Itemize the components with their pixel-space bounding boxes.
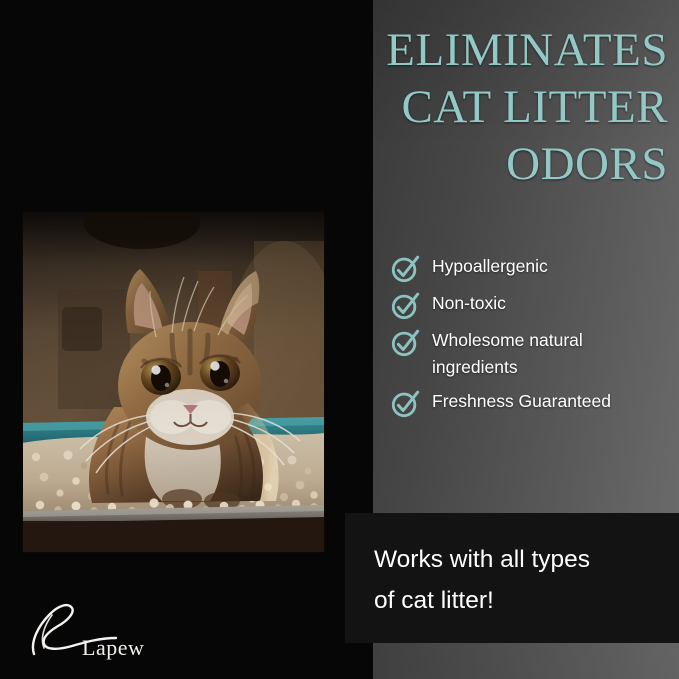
check-circle-icon xyxy=(390,327,420,357)
feature-label: Wholesome natural ingredients xyxy=(432,326,672,381)
headline: ELIMINATES CAT LITTER ODORS xyxy=(288,22,668,193)
check-circle-icon xyxy=(390,290,420,320)
callout-line-2: of cat litter! xyxy=(374,580,667,621)
feature-label: Hypoallergenic xyxy=(432,252,548,280)
list-item: Wholesome natural ingredients xyxy=(390,326,672,381)
callout-box: Works with all types of cat litter! xyxy=(345,513,679,643)
photo-artwork xyxy=(22,211,325,553)
list-item: Freshness Guaranteed xyxy=(390,387,672,418)
headline-line-3: ODORS xyxy=(288,136,668,193)
feature-label: Freshness Guaranteed xyxy=(432,387,611,415)
headline-line-1: ELIMINATES xyxy=(288,22,668,79)
feature-list: Hypoallergenic Non-toxic Wholesome natur… xyxy=(390,252,672,424)
callout-line-1: Works with all types xyxy=(374,539,667,580)
list-item: Hypoallergenic xyxy=(390,252,672,283)
feature-label: Non-toxic xyxy=(432,289,506,317)
list-item: Non-toxic xyxy=(390,289,672,320)
kitten-litter-box-photo xyxy=(22,211,325,553)
check-circle-icon xyxy=(390,388,420,418)
brand-logo: Lapew xyxy=(24,598,154,668)
check-circle-icon xyxy=(390,253,420,283)
product-infographic: ELIMINATES CAT LITTER ODORS xyxy=(0,0,679,679)
callout-text: Works with all types of cat litter! xyxy=(374,539,667,621)
logo-wordmark: Lapew xyxy=(82,635,144,661)
headline-line-2: CAT LITTER xyxy=(288,79,668,136)
